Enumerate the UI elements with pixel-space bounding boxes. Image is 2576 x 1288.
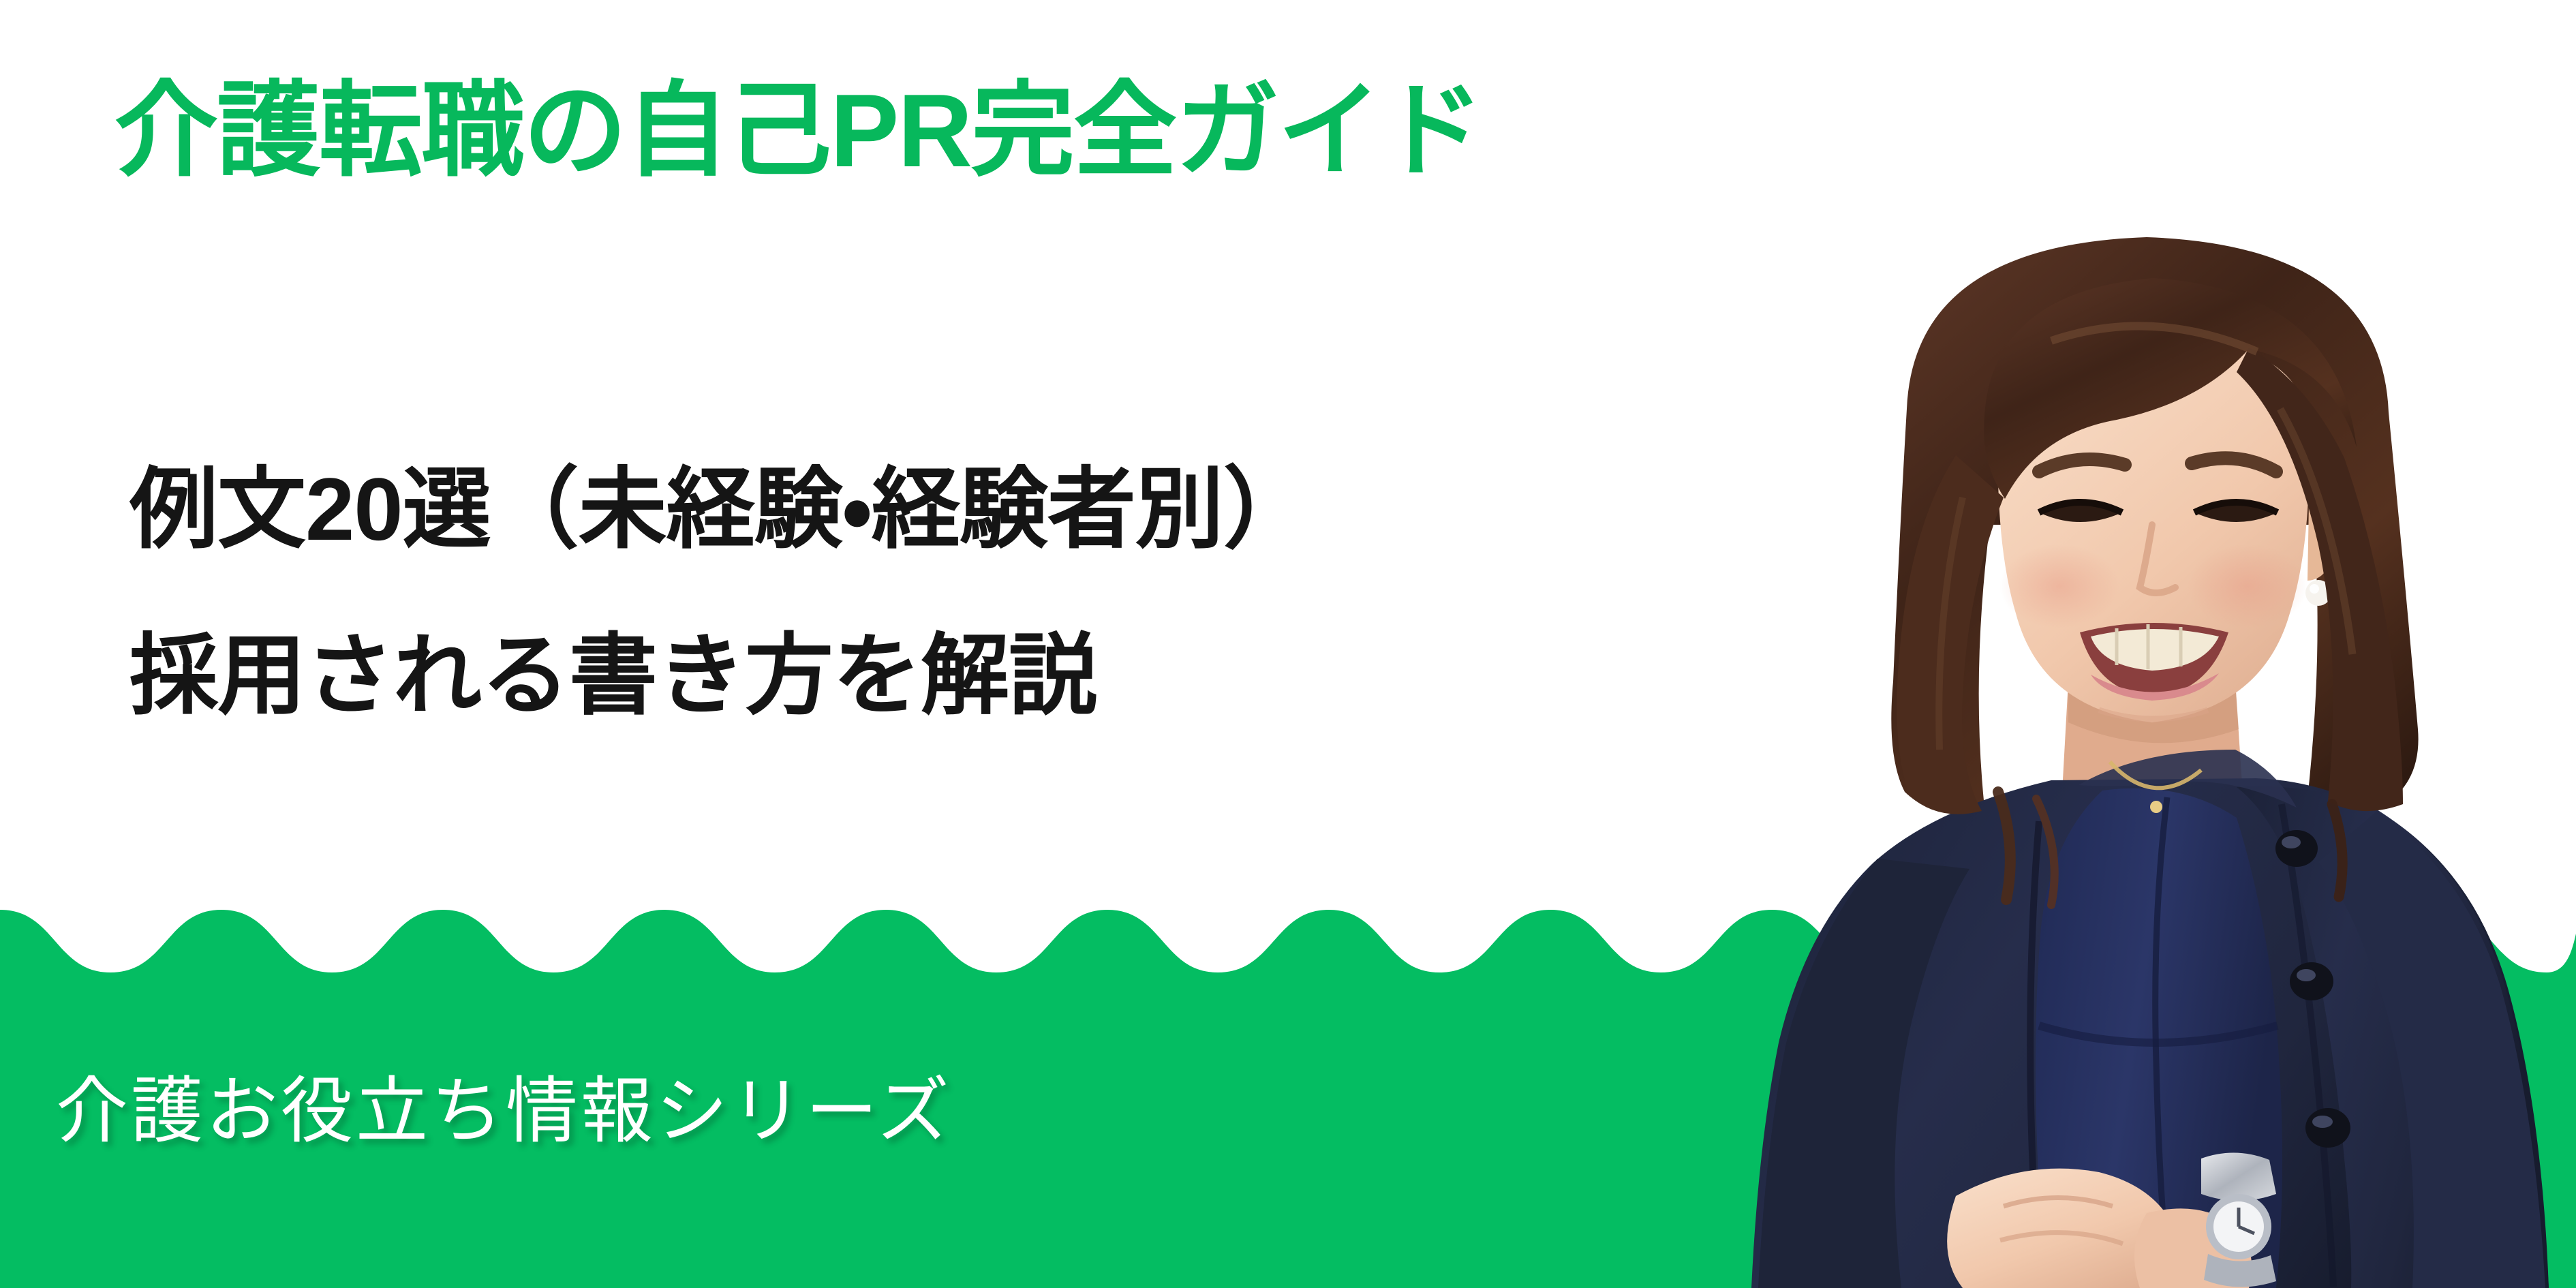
eye-left (2039, 501, 2122, 522)
teeth (2091, 629, 2219, 671)
jacket (1751, 750, 2549, 1288)
eyebrow-right (2192, 458, 2276, 472)
hair-back (1891, 237, 2418, 813)
eyebrow-left (2039, 459, 2125, 472)
earring (2305, 580, 2331, 606)
page-title: 介護転職の自己PR完全ガイド (114, 79, 1482, 183)
neck (2061, 681, 2243, 804)
face (1998, 335, 2333, 722)
hands (1947, 1169, 2252, 1288)
eye-right (2194, 501, 2278, 522)
ear-right (2307, 504, 2333, 581)
subtitle-line-2: 採用される書き方を解説 (129, 592, 1311, 758)
necklace (2110, 762, 2201, 813)
mouth (2080, 623, 2228, 696)
subtitle-block: 例文20選（未経験・経験者別） 採用される書き方を解説 (129, 426, 1311, 759)
wristwatch (2201, 1152, 2276, 1287)
series-label: 介護お役立ち情報シリーズ (56, 1075, 952, 1148)
article-thumbnail-banner: 介護転職の自己PR完全ガイド 例文20選（未経験・経験者別） 採用される書き方を… (0, 0, 2576, 1288)
blouse (2036, 788, 2282, 1288)
jacket-buttons (2275, 830, 2350, 1148)
hair-front (1897, 278, 2403, 905)
subtitle-line-1: 例文20選（未経験・経験者別） (129, 426, 1311, 592)
portrait-photo (1731, 204, 2576, 1288)
